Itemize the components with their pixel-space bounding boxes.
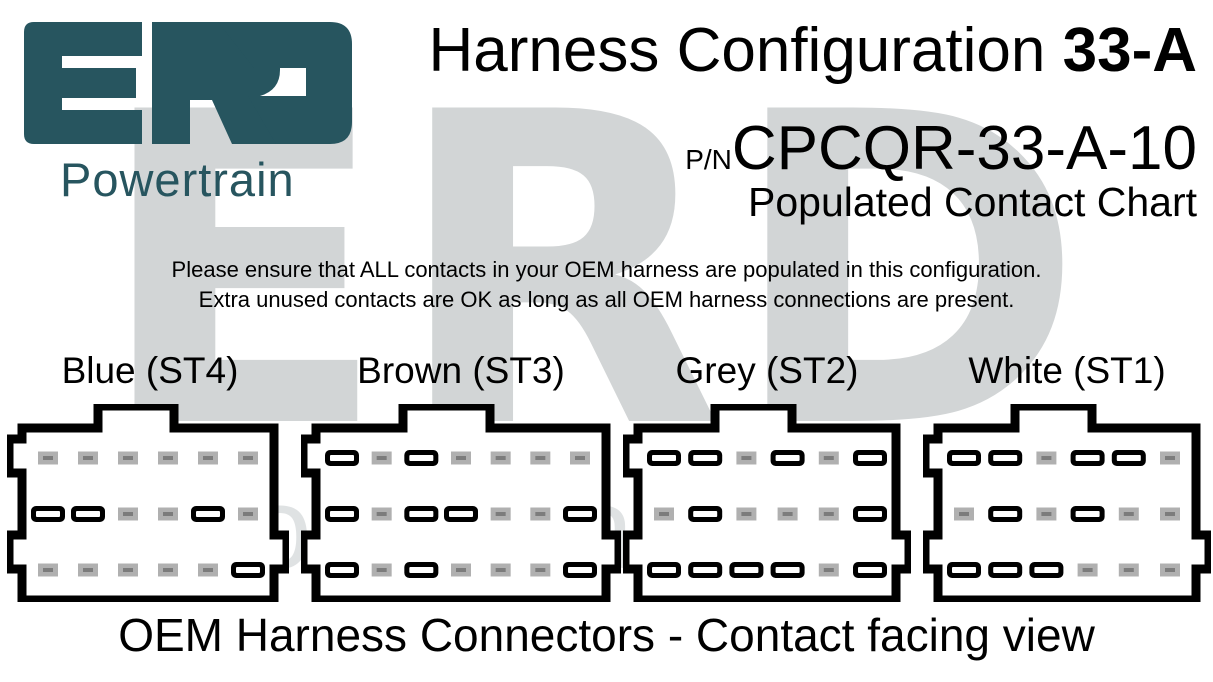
cavity-st1-r2c1 <box>954 508 974 521</box>
cavity-empty-slot <box>496 568 506 572</box>
cavity-empty-slot <box>1083 568 1093 572</box>
cavity-empty-slot <box>43 456 53 460</box>
cavity-empty-slot <box>535 568 545 572</box>
cavity-filled-slot <box>76 511 100 517</box>
cavity-empty-slot <box>203 568 213 572</box>
cavity-st4-r1c3 <box>118 452 138 465</box>
cavity-filled-slot <box>776 567 800 573</box>
connector-diagrams <box>0 0 1213 682</box>
cavity-st4-r1c5 <box>198 452 218 465</box>
cavity-empty-slot <box>377 512 387 516</box>
cavity-empty-slot <box>83 456 93 460</box>
cavity-st2-r3c6 <box>853 562 887 578</box>
cavity-empty-slot <box>163 456 173 460</box>
cavity-st2-r1c1 <box>647 450 681 466</box>
cavity-st4-r2c3 <box>118 508 138 521</box>
cavity-filled-slot <box>236 567 260 573</box>
cavity-st1-r2c3 <box>1036 508 1056 521</box>
cavity-st1-r2c4 <box>1071 506 1105 522</box>
cavity-st3-r1c7 <box>570 452 590 465</box>
cavity-st3-r3c6 <box>530 564 550 577</box>
cavity-filled-slot <box>858 455 882 461</box>
cavity-st3-r3c1 <box>325 562 359 578</box>
cavity-st3-r2c4 <box>444 506 478 522</box>
cavity-filled-slot <box>1076 511 1100 517</box>
cavity-filled-slot <box>858 567 882 573</box>
cavity-filled-slot <box>693 455 717 461</box>
cavity-st4-r1c1 <box>38 452 58 465</box>
cavity-st3-r2c1 <box>325 506 359 522</box>
connector-st2 <box>623 404 911 602</box>
cavity-st4-r1c2 <box>78 452 98 465</box>
diagram-caption: OEM Harness Connectors - Contact facing … <box>0 612 1213 658</box>
cavity-empty-slot <box>123 512 133 516</box>
cavity-filled-slot <box>36 511 60 517</box>
cavity-filled-slot <box>568 511 592 517</box>
cavity-st1-r1c6 <box>1160 452 1180 465</box>
cavity-st1-r3c2 <box>988 562 1022 578</box>
cavity-filled-slot <box>993 511 1017 517</box>
cavity-filled-slot <box>409 455 433 461</box>
cavity-filled-slot <box>734 567 758 573</box>
cavity-filled-slot <box>409 511 433 517</box>
cavity-st4-r3c3 <box>118 564 138 577</box>
cavity-st3-r2c6 <box>530 508 550 521</box>
cavity-st3-r3c7 <box>563 562 597 578</box>
cavity-st4-r3c5 <box>198 564 218 577</box>
cavity-st3-r1c6 <box>530 452 550 465</box>
cavity-st3-r1c4 <box>451 452 471 465</box>
cavity-st1-r1c3 <box>1036 452 1056 465</box>
cavity-empty-slot <box>456 456 466 460</box>
cavity-st4-r2c5 <box>191 506 225 522</box>
cavity-filled-slot <box>1034 567 1058 573</box>
cavity-filled-slot <box>776 455 800 461</box>
cavity-filled-slot <box>409 567 433 573</box>
cavity-st3-r3c2 <box>372 564 392 577</box>
cavity-st2-r1c5 <box>819 452 839 465</box>
cavity-empty-slot <box>824 568 834 572</box>
cavity-empty-slot <box>659 512 669 516</box>
cavity-empty-slot <box>1165 568 1175 572</box>
cavity-st2-r2c2 <box>688 506 722 522</box>
cavity-st2-r3c4 <box>771 562 805 578</box>
cavity-st1-r1c2 <box>988 450 1022 466</box>
cavity-st3-r2c2 <box>372 508 392 521</box>
cavity-filled-slot <box>652 455 676 461</box>
cavity-empty-slot <box>377 456 387 460</box>
cavity-st3-r2c3 <box>404 506 438 522</box>
cavity-empty-slot <box>535 456 545 460</box>
cavity-empty-slot <box>123 456 133 460</box>
cavity-st2-r2c5 <box>819 508 839 521</box>
document-page: Powertrain Harness Configuration 33-A P/… <box>0 0 1213 682</box>
cavity-st3-r3c5 <box>491 564 511 577</box>
cavity-empty-slot <box>243 512 253 516</box>
cavity-st1-r3c6 <box>1160 564 1180 577</box>
cavity-st4-r2c4 <box>158 508 178 521</box>
cavity-filled-slot <box>196 511 220 517</box>
cavity-empty-slot <box>575 456 585 460</box>
cavity-filled-slot <box>993 455 1017 461</box>
cavity-st4-r2c6 <box>238 508 258 521</box>
cavity-st2-r2c6 <box>853 506 887 522</box>
cavity-filled-slot <box>449 511 473 517</box>
cavity-st2-r1c2 <box>688 450 722 466</box>
cavity-empty-slot <box>959 512 969 516</box>
cavity-empty-slot <box>1124 512 1134 516</box>
cavity-filled-slot <box>858 511 882 517</box>
connector-st1 <box>923 404 1211 602</box>
cavity-empty-slot <box>123 568 133 572</box>
cavity-st4-r3c6 <box>231 562 265 578</box>
cavity-empty-slot <box>377 568 387 572</box>
cavity-st3-r1c3 <box>404 450 438 466</box>
cavity-filled-slot <box>1076 455 1100 461</box>
cavity-empty-slot <box>43 568 53 572</box>
cavity-st3-r1c1 <box>325 450 359 466</box>
cavity-filled-slot <box>693 567 717 573</box>
cavity-filled-slot <box>330 567 354 573</box>
cavity-st4-r3c1 <box>38 564 58 577</box>
cavity-empty-slot <box>163 568 173 572</box>
cavity-empty-slot <box>1165 512 1175 516</box>
cavity-st3-r3c3 <box>404 562 438 578</box>
cavity-empty-slot <box>1041 456 1051 460</box>
cavity-filled-slot <box>330 511 354 517</box>
cavity-st1-r2c2 <box>988 506 1022 522</box>
cavity-st1-r3c3 <box>1029 562 1063 578</box>
cavity-filled-slot <box>952 567 976 573</box>
cavity-st4-r2c1 <box>31 506 65 522</box>
cavity-st3-r2c5 <box>491 508 511 521</box>
cavity-empty-slot <box>163 512 173 516</box>
cavity-empty-slot <box>243 456 253 460</box>
cavity-st1-r1c1 <box>947 450 981 466</box>
cavity-st1-r1c5 <box>1112 450 1146 466</box>
cavity-empty-slot <box>203 456 213 460</box>
cavity-empty-slot <box>824 456 834 460</box>
cavity-empty-slot <box>783 512 793 516</box>
cavity-empty-slot <box>496 456 506 460</box>
cavity-st4-r3c2 <box>78 564 98 577</box>
cavity-filled-slot <box>330 455 354 461</box>
cavity-st1-r3c4 <box>1078 564 1098 577</box>
connector-st4 <box>7 404 289 602</box>
cavity-filled-slot <box>1117 455 1141 461</box>
cavity-empty-slot <box>83 568 93 572</box>
cavity-st4-r1c4 <box>158 452 178 465</box>
cavity-st1-r2c5 <box>1119 508 1139 521</box>
cavity-filled-slot <box>652 567 676 573</box>
cavity-st4-r3c4 <box>158 564 178 577</box>
cavity-st4-r1c6 <box>238 452 258 465</box>
cavity-st2-r3c2 <box>688 562 722 578</box>
cavity-st2-r2c4 <box>778 508 798 521</box>
cavity-empty-slot <box>1165 456 1175 460</box>
cavity-st1-r3c5 <box>1119 564 1139 577</box>
cavity-st2-r2c3 <box>736 508 756 521</box>
cavity-empty-slot <box>535 512 545 516</box>
cavity-filled-slot <box>952 455 976 461</box>
cavity-st3-r3c4 <box>451 564 471 577</box>
cavity-empty-slot <box>1041 512 1051 516</box>
cavity-st1-r1c4 <box>1071 450 1105 466</box>
cavity-empty-slot <box>741 456 751 460</box>
cavity-st1-r2c6 <box>1160 508 1180 521</box>
cavity-st3-r1c2 <box>372 452 392 465</box>
cavity-filled-slot <box>568 567 592 573</box>
cavity-st2-r3c5 <box>819 564 839 577</box>
cavity-st3-r2c7 <box>563 506 597 522</box>
cavity-empty-slot <box>824 512 834 516</box>
cavity-st1-r3c1 <box>947 562 981 578</box>
cavity-empty-slot <box>741 512 751 516</box>
cavity-empty-slot <box>1124 568 1134 572</box>
cavity-st2-r3c1 <box>647 562 681 578</box>
cavity-st2-r1c4 <box>771 450 805 466</box>
cavity-st2-r3c3 <box>729 562 763 578</box>
cavity-st2-r1c3 <box>736 452 756 465</box>
cavity-empty-slot <box>456 568 466 572</box>
cavity-empty-slot <box>496 512 506 516</box>
cavity-filled-slot <box>993 567 1017 573</box>
cavity-st2-r1c6 <box>853 450 887 466</box>
cavity-filled-slot <box>693 511 717 517</box>
cavity-st4-r2c2 <box>71 506 105 522</box>
connector-st3 <box>301 404 621 602</box>
cavity-st3-r1c5 <box>491 452 511 465</box>
cavity-st2-r2c1 <box>654 508 674 521</box>
